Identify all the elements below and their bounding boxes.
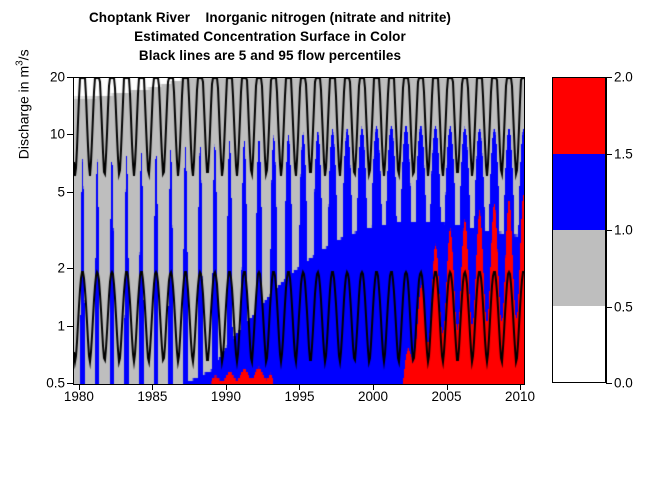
y-axis-label: Discharge in m3/s bbox=[15, 19, 32, 189]
legend-tick-mark bbox=[606, 77, 612, 78]
y-tick-label: 5 bbox=[57, 184, 65, 199]
legend-tick-mark bbox=[606, 230, 612, 231]
legend-tick-mark bbox=[606, 383, 612, 384]
legend-tick-label: 0.5 bbox=[614, 299, 633, 314]
y-tick-label: 1 bbox=[57, 318, 65, 333]
legend-tick-mark bbox=[606, 154, 612, 155]
y-axis-label-suffix: /s bbox=[15, 49, 31, 60]
legend-band[interactable] bbox=[553, 230, 605, 306]
x-tick-label: 1980 bbox=[64, 389, 94, 404]
x-tick-label: 1990 bbox=[211, 389, 241, 404]
y-tick-label: 10 bbox=[50, 127, 65, 142]
y-axis-label-prefix: Discharge in m bbox=[15, 66, 31, 159]
plot-area[interactable] bbox=[73, 77, 525, 385]
title-line-2: Estimated Concentration Surface in Color bbox=[0, 27, 540, 46]
legend-band[interactable] bbox=[553, 154, 605, 230]
legend-tick-label: 1.0 bbox=[614, 223, 633, 238]
legend-tick-label: 0.0 bbox=[614, 376, 633, 391]
y-tick-label: 2 bbox=[57, 261, 65, 276]
x-tick-label: 1995 bbox=[284, 389, 314, 404]
color-legend[interactable] bbox=[552, 77, 606, 383]
y-tick-label: 0.5 bbox=[46, 376, 65, 391]
legend-tick-mark bbox=[606, 307, 612, 308]
y-tick-label: 20 bbox=[50, 70, 65, 85]
legend-tick-label: 1.5 bbox=[614, 146, 633, 161]
x-tick-label: 2005 bbox=[431, 389, 461, 404]
legend-tick-label: 2.0 bbox=[614, 70, 633, 85]
y-axis-label-exponent: 3 bbox=[15, 60, 26, 66]
x-tick-label: 2010 bbox=[505, 389, 535, 404]
legend-band[interactable] bbox=[553, 306, 605, 382]
legend-band[interactable] bbox=[553, 78, 605, 154]
chart-page: Choptank River Inorganic nitrogen (nitra… bbox=[0, 0, 672, 480]
chart-title: Choptank River Inorganic nitrogen (nitra… bbox=[0, 8, 540, 65]
title-line-1: Choptank River Inorganic nitrogen (nitra… bbox=[0, 8, 540, 27]
concentration-surface-canvas[interactable] bbox=[74, 78, 524, 384]
x-tick-label: 1985 bbox=[137, 389, 167, 404]
x-tick-label: 2000 bbox=[358, 389, 388, 404]
title-line-3: Black lines are 5 and 95 flow percentile… bbox=[0, 46, 540, 65]
